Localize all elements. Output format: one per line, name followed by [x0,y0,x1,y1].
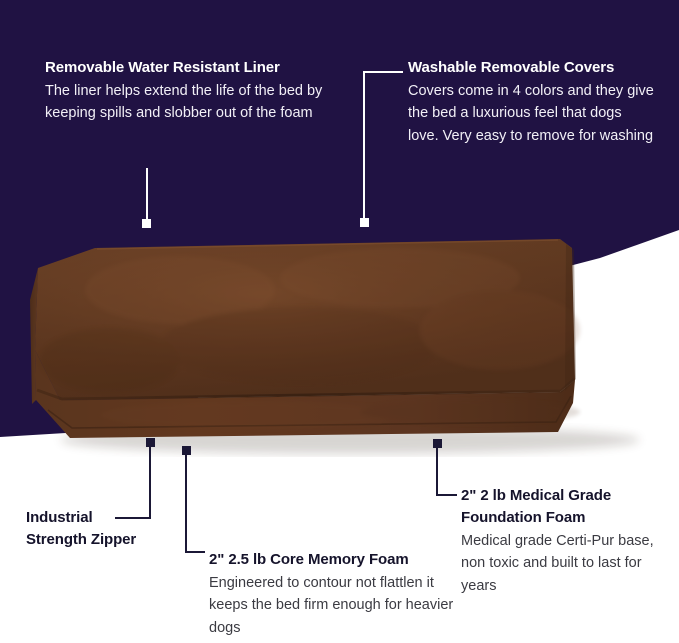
product-infographic: Removable Water Resistant Liner The line… [0,0,679,643]
connector-foundation-horizontal [436,494,457,496]
connector-foundation-marker [433,439,442,448]
connector-foundation-foam [0,0,679,643]
connector-foundation-vertical [436,448,438,496]
